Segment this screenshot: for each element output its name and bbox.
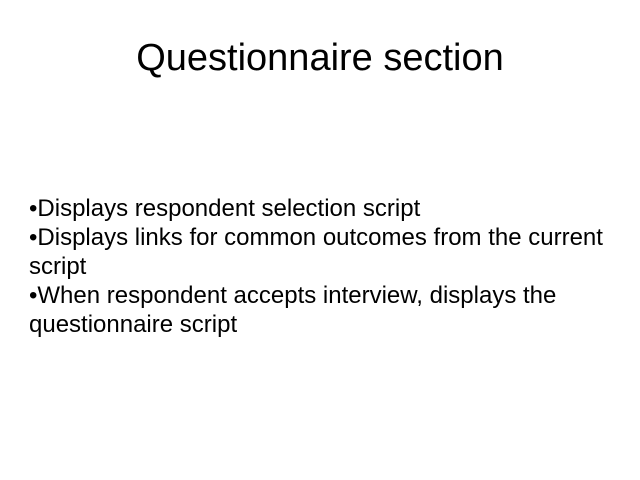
list-item-label: When respondent accepts interview, displ… xyxy=(29,282,556,338)
slide-canvas: Questionnaire section •Displays responde… xyxy=(0,0,640,480)
list-item: •When respondent accepts interview, disp… xyxy=(29,281,613,339)
slide-body-content: •Displays respondent selection script •D… xyxy=(29,194,613,339)
list-item-label: Displays links for common outcomes from … xyxy=(29,224,603,280)
page-title: Questionnaire section xyxy=(0,36,640,80)
list-item: •Displays respondent selection script xyxy=(29,194,613,223)
list-item-label: Displays respondent selection script xyxy=(37,195,420,222)
list-item: •Displays links for common outcomes from… xyxy=(29,223,613,281)
